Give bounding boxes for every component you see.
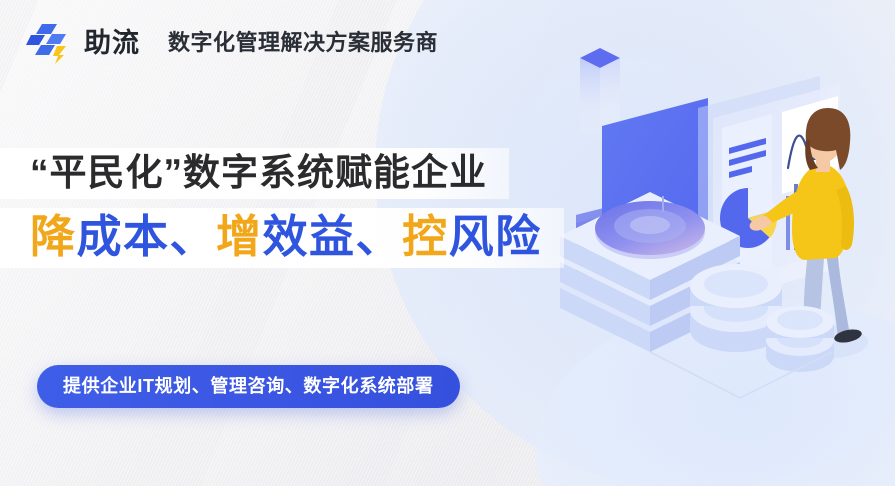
headline-part-1: 降: [30, 211, 77, 262]
headline-part-3: 增: [216, 211, 263, 262]
brand-header: 助流 数字化管理解决方案服务商: [26, 22, 438, 64]
zhuliu-flow-logo-icon[interactable]: [26, 22, 70, 64]
services-pill-button[interactable]: 提供企业IT规划、管理咨询、数字化系统部署: [37, 365, 460, 408]
hero-headlines: “平民化”数字系统赋能企业 降成本、增效益、控风险: [0, 148, 895, 268]
headline-part-2: 成本、: [77, 211, 217, 262]
headline-primary: “平民化”数字系统赋能企业: [0, 148, 509, 199]
promotional-banner: 助流 数字化管理解决方案服务商 “平民化”数字系统赋能企业 降成本、增效益、控风…: [0, 0, 895, 486]
headline-secondary: 降成本、增效益、控风险: [0, 208, 564, 268]
header-subtitle: 数字化管理解决方案服务商: [168, 32, 438, 54]
headline-part-6: 风险: [449, 211, 542, 262]
logo-wordmark: 助流: [84, 30, 140, 57]
headline-part-4: 效益、: [263, 211, 403, 262]
headline-part-5: 控: [402, 211, 449, 262]
